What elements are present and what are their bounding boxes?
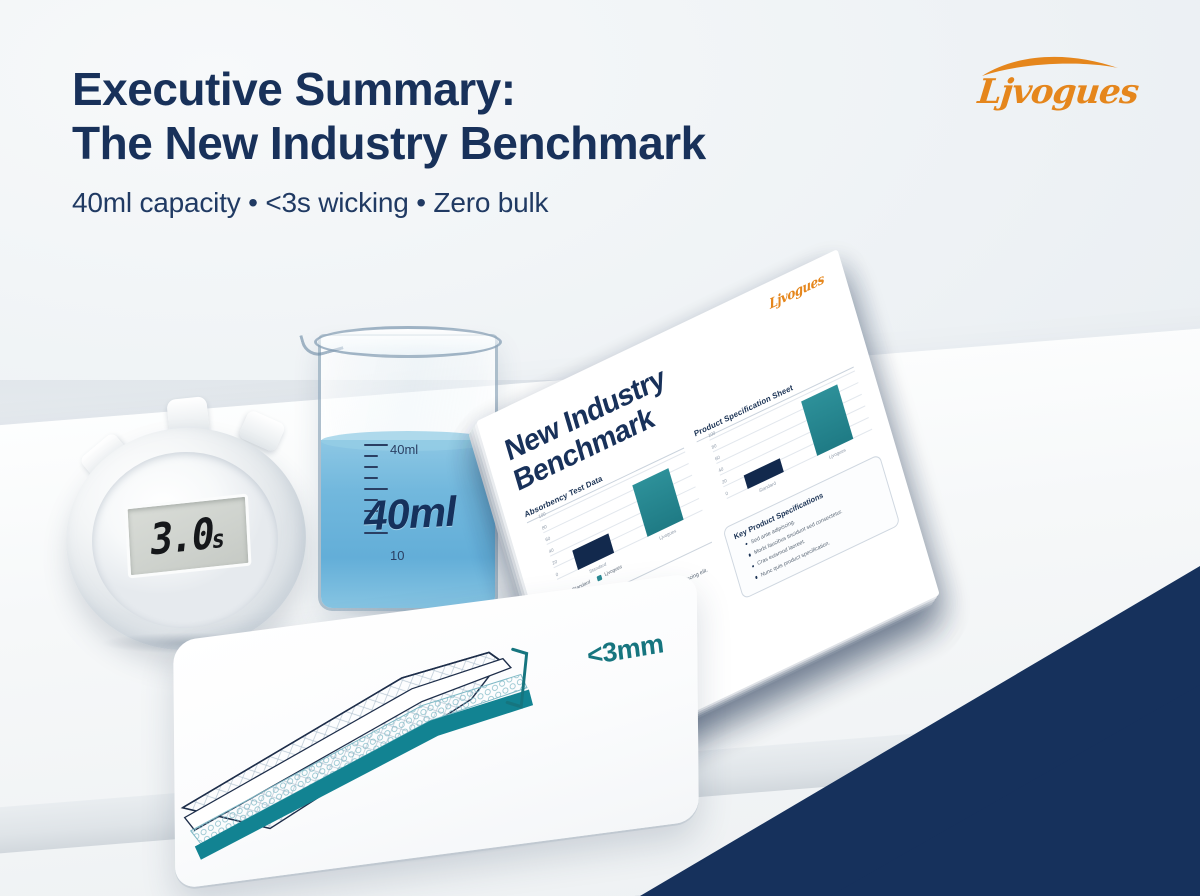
legend-swatch-ljvogues <box>597 574 603 581</box>
header-block: Executive Summary: The New Industry Benc… <box>72 62 932 219</box>
page-title: Executive Summary: The New Industry Benc… <box>72 62 932 171</box>
beaker-glass <box>318 334 498 611</box>
beaker-rim <box>314 326 502 358</box>
stopwatch: 3.0s <box>58 392 326 654</box>
beaker: 40ml 10 40ml <box>306 316 504 612</box>
brand-name: Ljvogues <box>966 72 1150 112</box>
stopwatch-unit: s <box>210 525 226 555</box>
beaker-capacity-label: 40ml <box>363 488 457 541</box>
beaker-tick-label-40: 40ml <box>390 442 418 457</box>
scene: Executive Summary: The New Industry Benc… <box>0 0 1200 896</box>
stopwatch-reading: 3.0s <box>148 507 229 565</box>
beaker-tick-label-10: 10 <box>390 548 404 563</box>
brand-logo: Ljvogues <box>968 56 1148 120</box>
page-subtitle: 40ml capacity • <3s wicking • Zero bulk <box>72 187 932 219</box>
stopwatch-lcd: 3.0s <box>124 494 251 579</box>
